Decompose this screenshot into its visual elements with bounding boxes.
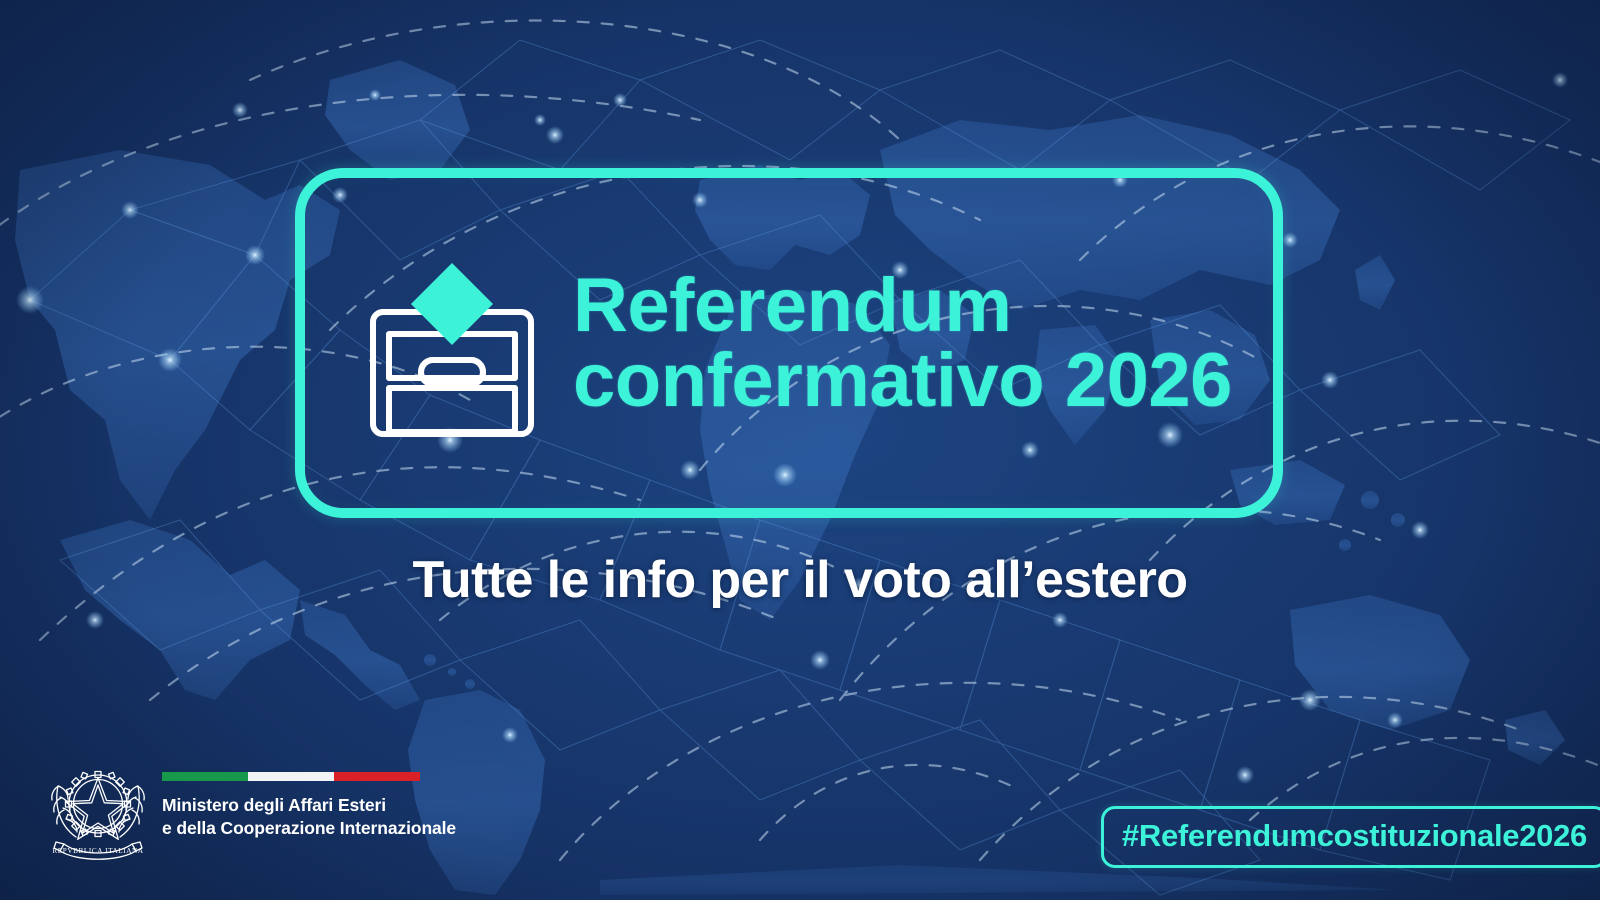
- emblem-motto: REPVBBLICA ITALIANA: [52, 847, 143, 855]
- hashtag-badge[interactable]: #Referendumcostituzionale2026: [1101, 806, 1600, 868]
- subtitle: Tutte le info per il voto all’estero: [0, 550, 1600, 610]
- flag-stripe-green: [162, 772, 248, 781]
- emblem-of-italy: REPVBBLICA ITALIANA: [46, 752, 150, 867]
- ballot-box-icon: [363, 236, 541, 445]
- banner-root: Referendum confermativo 2026 Tutte le in…: [0, 0, 1600, 900]
- italian-flag-bar: [162, 772, 420, 781]
- ministry-lockup: REPVBBLICA ITALIANA Ministero degli Affa…: [46, 752, 456, 867]
- ministry-name: Ministero degli Affari Esteri e della Co…: [162, 794, 456, 841]
- hero-callout-box: Referendum confermativo 2026: [295, 168, 1283, 518]
- hero-title: Referendum confermativo 2026: [573, 268, 1232, 418]
- flag-stripe-white: [248, 772, 334, 781]
- hero-title-line-1: Referendum: [573, 268, 1232, 343]
- hero-title-line-2: confermativo 2026: [573, 343, 1232, 418]
- flag-stripe-red: [334, 772, 420, 781]
